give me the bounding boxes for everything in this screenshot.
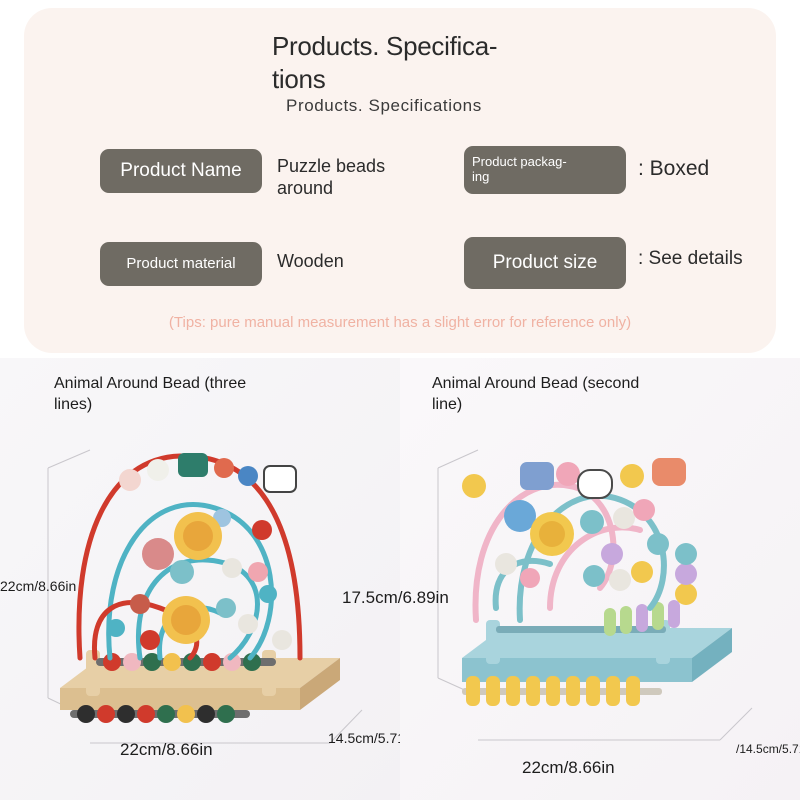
value-product-material: Wooden <box>277 251 344 273</box>
page-subtitle: Products. Specifications <box>286 96 482 116</box>
label-product-name: Product Name <box>100 149 262 193</box>
value-product-name: Puzzle beads around <box>277 156 427 199</box>
label-product-size: Product size <box>464 237 626 289</box>
value-product-packaging: : Boxed <box>638 156 709 181</box>
value-product-name-line1: Puzzle beads <box>277 156 427 178</box>
label-product-material: Product material <box>100 242 262 286</box>
dimension-depth-right: /14.5cm/5.71in <box>736 742 800 756</box>
caption-second-line-line2: line) <box>432 395 692 416</box>
page-title-line1: Products. Specifica- <box>272 30 572 63</box>
caption-three-lines-line1: Animal Around Bead (three <box>54 374 304 395</box>
caption-second-line: Animal Around Bead (second line) <box>432 374 692 416</box>
label-product-packaging: Product packag- ing <box>464 146 626 194</box>
tips-note: (Tips: pure manual measurement has a sli… <box>24 314 776 331</box>
dimension-height-left: 22cm/8.66in <box>0 578 76 594</box>
caption-second-line-line1: Animal Around Bead (second <box>432 374 692 395</box>
dimension-width-right: 22cm/8.66in <box>522 758 615 778</box>
label-product-packaging-line1: Product packag- <box>472 155 567 170</box>
value-product-name-line2: around <box>277 178 427 200</box>
dimension-height-right: 17.5cm/6.89in <box>342 588 449 608</box>
dimension-width-left: 22cm/8.66in <box>120 740 213 760</box>
value-product-size: : See details <box>638 248 743 271</box>
product-image-second-line <box>400 358 800 800</box>
product-illustration-right <box>400 358 800 800</box>
page-title: Products. Specifica- tions <box>272 30 572 97</box>
label-product-packaging-line2: ing <box>472 170 489 185</box>
caption-three-lines: Animal Around Bead (three lines) <box>54 374 304 416</box>
caption-three-lines-line2: lines) <box>54 395 304 416</box>
page-title-line2: tions <box>272 63 572 96</box>
specifications-card: Products. Specifica- tions Products. Spe… <box>24 8 776 353</box>
